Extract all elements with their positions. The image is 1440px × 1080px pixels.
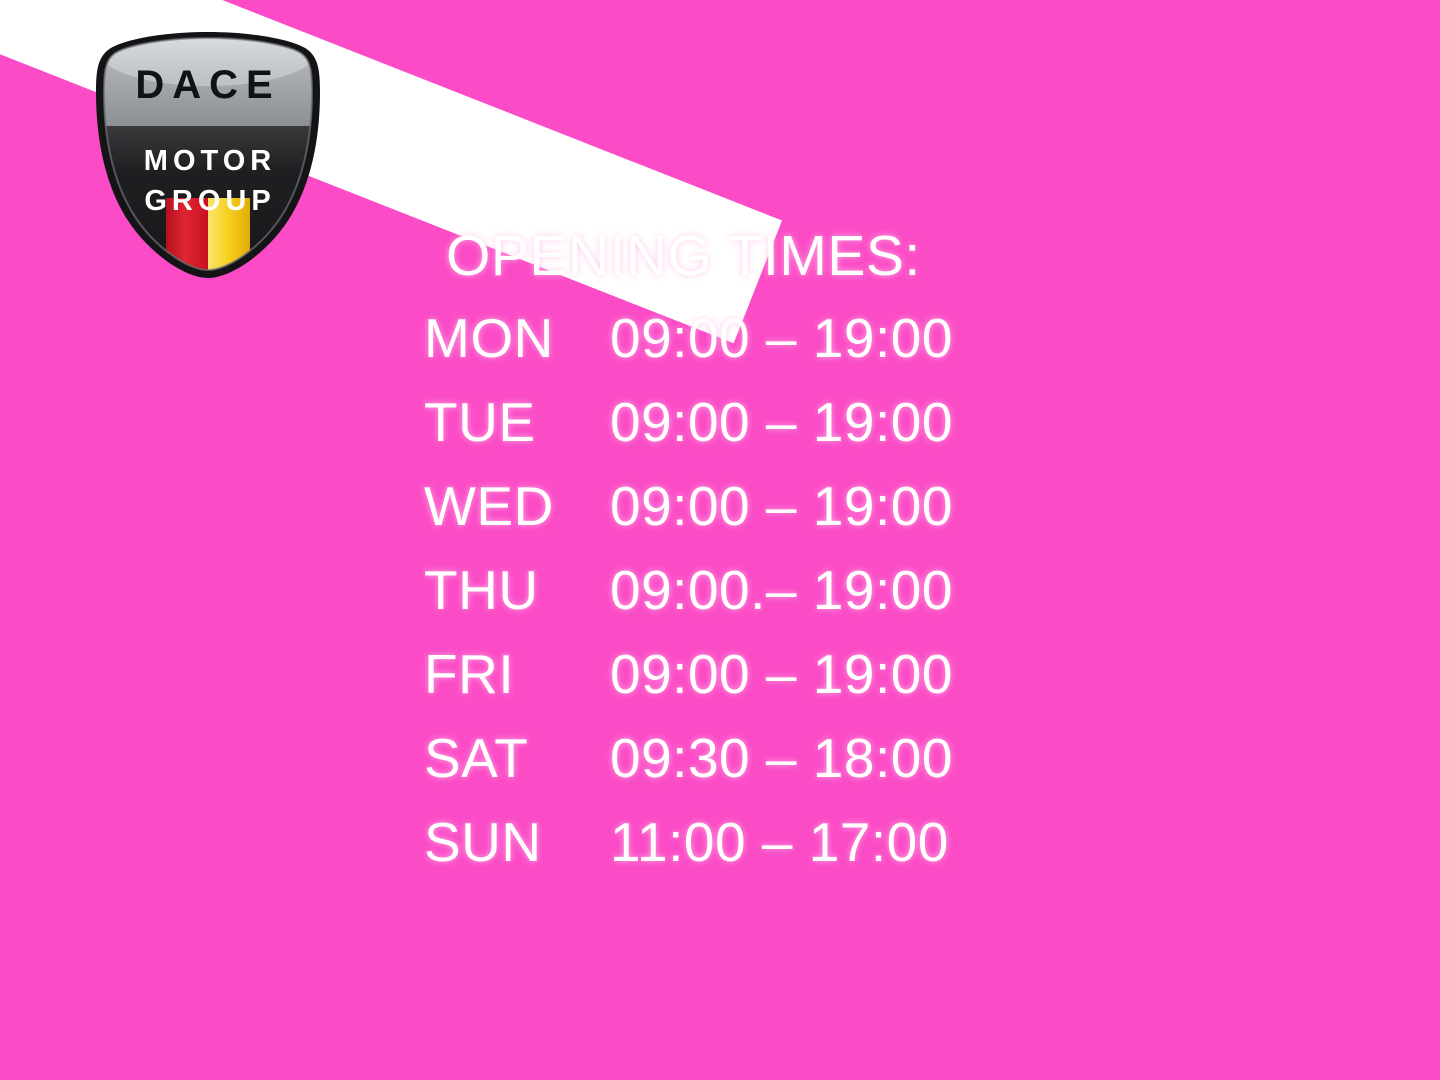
hours-value: 09:00 – 19:00 [610, 479, 953, 534]
opening-times-poster: DACE MOTOR GROUP OPENING TIMES: MON 09:0… [0, 0, 1440, 1080]
list-item: TUE 09:00 – 19:00 [424, 395, 1024, 479]
day-label: SUN [424, 815, 610, 870]
logo-text-motor: MOTOR [144, 145, 276, 177]
opening-times-list: OPENING TIMES: MON 09:00 – 19:00 TUE 09:… [424, 228, 1024, 899]
hours-value: 11:00 – 17:00 [610, 815, 949, 870]
list-item: SAT 09:30 – 18:00 [424, 731, 1024, 815]
hours-value: 09:00 – 19:00 [610, 647, 953, 702]
logo-text-dace: DACE [135, 63, 280, 107]
hours-value: 09:30 – 18:00 [610, 731, 953, 786]
list-item: FRI 09:00 – 19:00 [424, 647, 1024, 731]
hours-value: 09:00 – 19:00 [610, 311, 953, 366]
hours-value: 09:00.– 19:00 [610, 563, 953, 618]
day-label: SAT [424, 731, 610, 786]
day-label: MON [424, 311, 610, 366]
list-item: WED 09:00 – 19:00 [424, 479, 1024, 563]
day-label: TUE [424, 395, 610, 450]
list-item: THU 09:00.– 19:00 [424, 563, 1024, 647]
day-label: WED [424, 479, 610, 534]
logo-text-group: GROUP [144, 185, 275, 217]
day-label: THU [424, 563, 610, 618]
list-item: MON 09:00 – 19:00 [424, 311, 1024, 395]
day-label: FRI [424, 647, 610, 702]
dace-motor-group-logo: DACE MOTOR GROUP [86, 30, 330, 278]
hours-value: 09:00 – 19:00 [610, 395, 953, 450]
list-item: SUN 11:00 – 17:00 [424, 815, 1024, 899]
page-title: OPENING TIMES: [424, 228, 1024, 285]
